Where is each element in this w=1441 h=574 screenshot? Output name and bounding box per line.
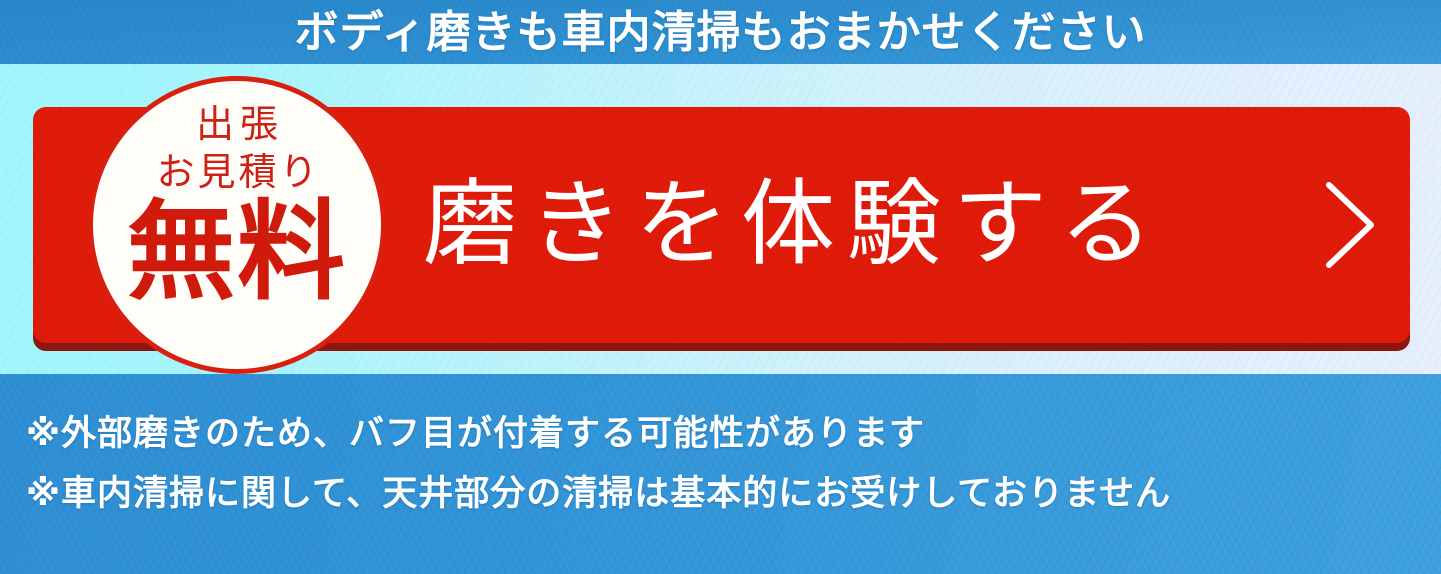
banner-headline: ボディ磨きも車内清掃もおまかせください — [0, 4, 1441, 62]
disclaimer-note-2: ※車内清掃に関して、天井部分の清掃は基本的にお受けしておりません — [26, 464, 1426, 524]
disclaimer-note-1: ※外部磨きのため、バフ目が付着する可能性があります — [26, 404, 1426, 464]
badge-line-free: 無料 — [127, 193, 347, 311]
cta-button-label: 磨きを体験する — [423, 178, 1165, 272]
cta-banner: ボディ磨きも車内清掃もおまかせください 磨きを体験する 出張 お見積り 無料 ※… — [0, 0, 1441, 574]
free-estimate-badge: 出張 お見積り 無料 — [88, 76, 386, 374]
badge-line-dispatch: 出張 — [190, 101, 284, 147]
disclaimer-notes: ※外部磨きのため、バフ目が付着する可能性があります ※車内清掃に関して、天井部分… — [26, 404, 1426, 524]
chevron-right-icon — [1309, 179, 1389, 271]
